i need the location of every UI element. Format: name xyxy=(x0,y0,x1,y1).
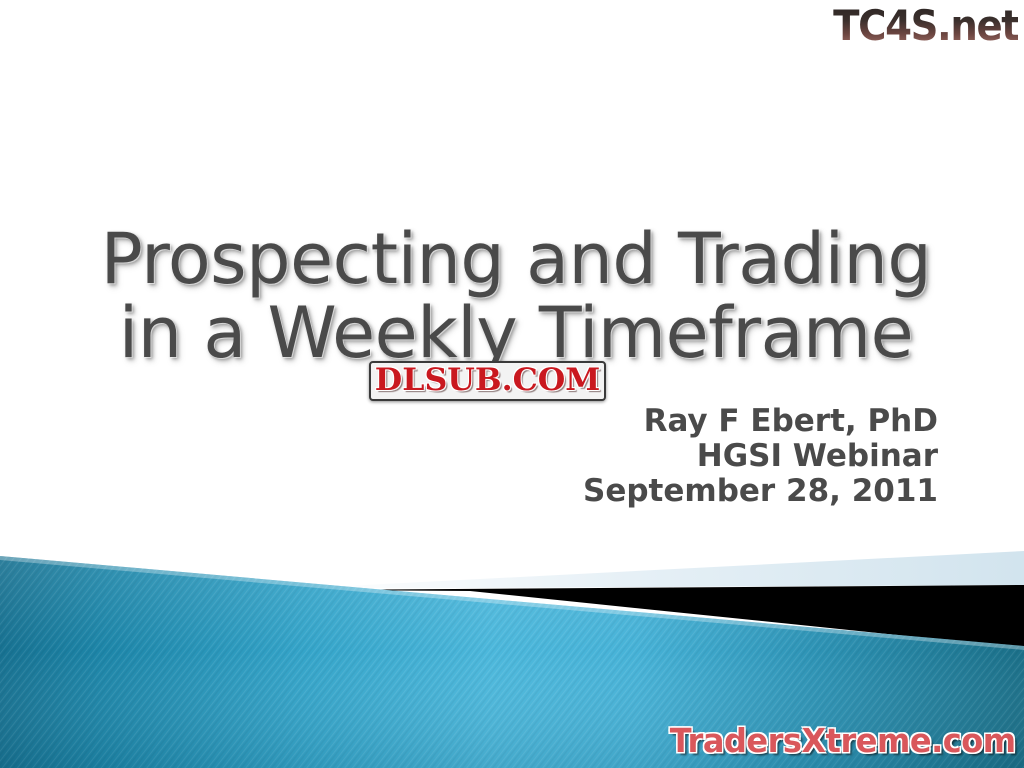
light-blue-wedge xyxy=(306,551,1024,588)
subtitle-event: HGSI Webinar xyxy=(583,439,938,474)
slide-subtitle: Ray F Ebert, PhD HGSI Webinar September … xyxy=(583,404,938,509)
watermark-dlsub-label: DLSUB.COM xyxy=(375,364,601,397)
teal-band-highlight xyxy=(0,556,1024,650)
subtitle-date: September 28, 2011 xyxy=(583,474,938,509)
watermark-tradersxtreme: TradersXtreme.com xyxy=(670,722,1016,760)
black-wedge xyxy=(318,585,1024,648)
presentation-slide: TC4S.net Prospecting and Trading in a We… xyxy=(0,0,1024,768)
slide-title: Prospecting and Trading in a Weekly Time… xyxy=(14,222,1018,370)
watermark-dlsub: DLSUB.COM xyxy=(369,361,606,401)
title-line-1: Prospecting and Trading xyxy=(14,222,1018,296)
title-line-2: in a Weekly Timeframe xyxy=(14,296,1018,370)
subtitle-presenter: Ray F Ebert, PhD xyxy=(583,404,938,439)
watermark-tc4s: TC4S.net xyxy=(833,2,1018,50)
